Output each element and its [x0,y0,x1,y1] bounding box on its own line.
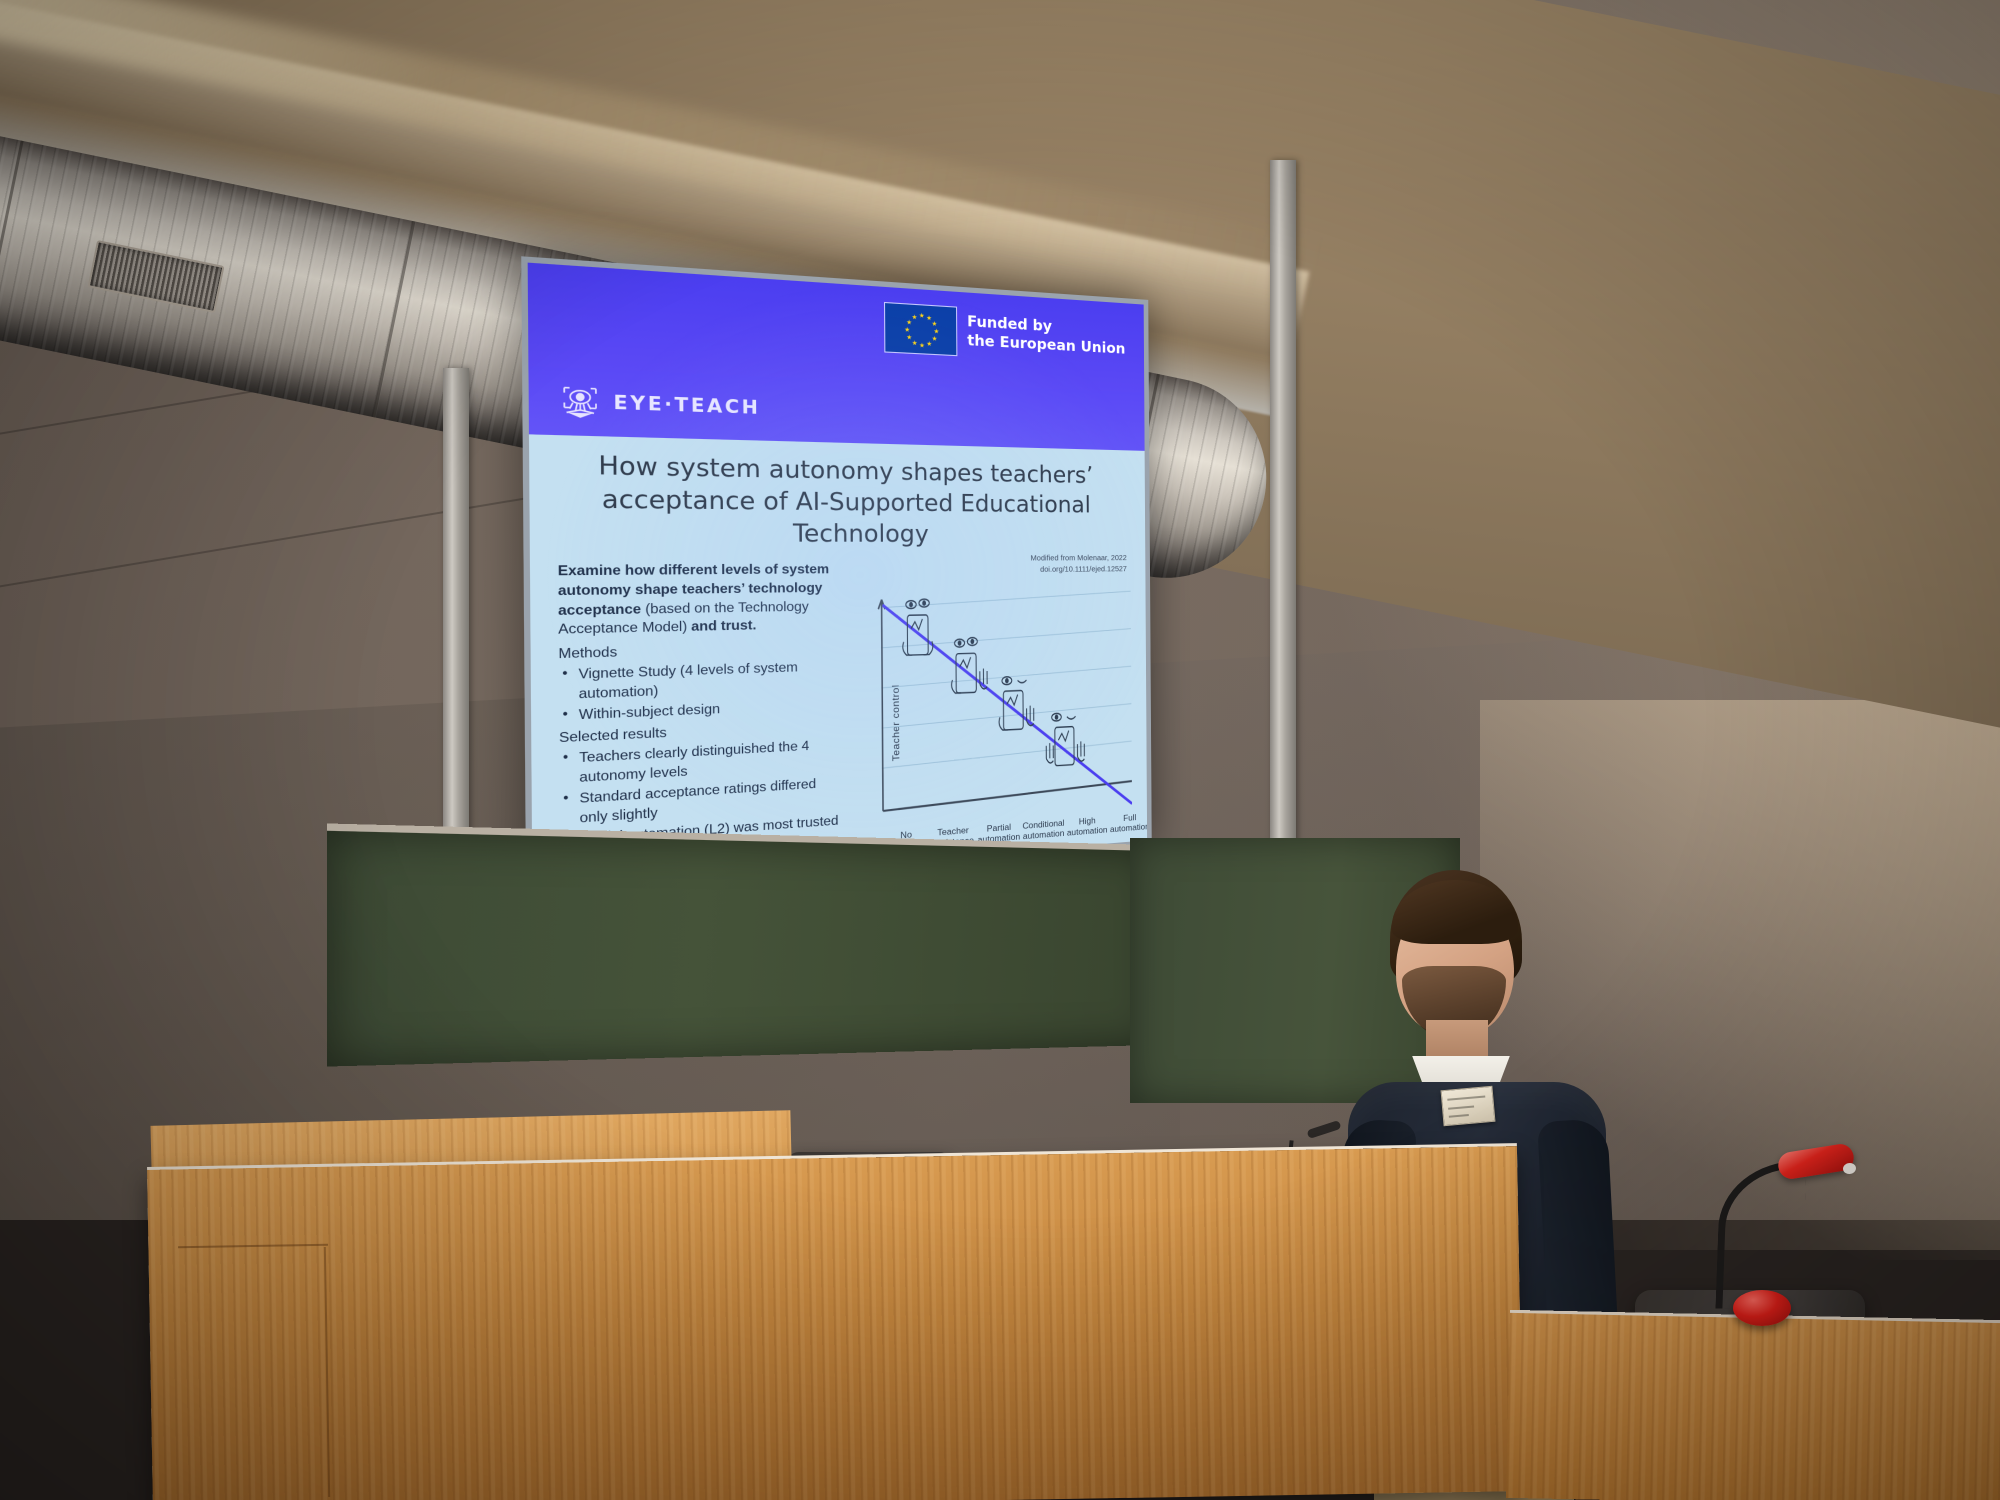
eu-star-icon [905,327,910,333]
methods-section: Methods Vignette Study (4 levels of syst… [558,637,840,725]
chart-citation: Modified from Molenaar, 2022 doi.org/10.… [1030,553,1126,574]
methods-bullet-list: Vignette Study (4 levels of system autom… [558,657,840,725]
pictogram-partial-automation [951,638,987,694]
wooden-podium-right [1506,1313,2000,1500]
wooden-podium [147,1146,1523,1500]
eu-star-icon [926,315,931,321]
projection-screen: Funded by the European Union [521,256,1152,898]
european-union-flag-icon [884,302,957,356]
eu-star-icon [919,313,924,319]
slide-chart-column: Modified from Molenaar, 2022 doi.org/10.… [846,559,1132,854]
chart-pictograms [861,582,1132,853]
eu-star-icon [927,341,932,347]
x-tick-label: Full automation [1109,810,1147,835]
pictogram-teacher-assistance [903,599,933,655]
red-gooseneck-microphone-base[interactable] [1733,1290,1791,1326]
presentation-slide: Funded by the European Union [528,263,1147,892]
pictogram-conditional-automation [999,676,1034,730]
lecture-hall-scene: Funded by the European Union [0,0,2000,1500]
badge-text-line [1448,1105,1474,1109]
badge-text-line [1447,1095,1485,1100]
eu-star-icon [932,321,937,327]
pictogram-high-automation [1046,712,1084,766]
eu-star-icon [934,328,939,334]
eu-star-icon [912,340,917,346]
green-chalkboard [327,823,1155,1066]
eu-star-icon [912,314,917,320]
eu-funding-text: Funded by the European Union [967,314,1125,359]
citation-doi: doi.org/10.1111/ejed.12527 [1031,564,1127,575]
brand-name: EYE·TEACH [613,392,760,420]
citation-source: Modified from Molenaar, 2022 [1030,553,1126,564]
x-tick-label: Conditional automation [1021,817,1065,843]
eu-star-icon [919,343,924,349]
x-tick-label: High automation [1066,814,1109,839]
teacher-control-chart: Teacher control [861,582,1132,853]
slide-lead-paragraph: Examine how different levels of system a… [558,561,840,640]
eye-teach-logo-icon [559,381,601,422]
lead-bold-2: and trust. [691,617,756,634]
eu-star-icon [907,334,912,340]
presenter-name-badge [1441,1086,1496,1126]
eu-funding-block: Funded by the European Union [884,302,1126,365]
badge-text-line [1449,1114,1469,1118]
eu-star-icon [932,336,937,342]
slide-title: How system autonomy shapes teachers’ acc… [529,434,1145,557]
eu-star-icon [906,319,911,325]
